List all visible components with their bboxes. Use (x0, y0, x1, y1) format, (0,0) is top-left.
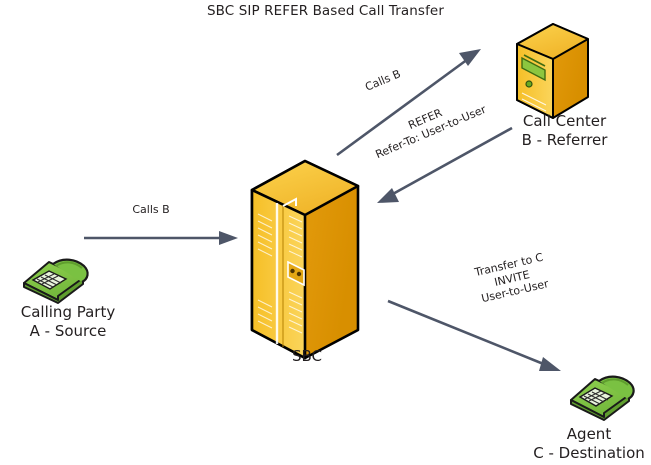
sbc-name: SBC (245, 347, 369, 366)
agent-phone-icon (571, 377, 634, 420)
arrow-a-to-sbc (84, 231, 238, 245)
call-center-name: Call Center (478, 112, 651, 131)
calling-party-role: A - Source (0, 322, 136, 341)
edge-label-a-to-sbc: Calls B (106, 203, 196, 217)
calling-party-name: Calling Party (0, 303, 136, 322)
node-label-call-center: Call Center B - Referrer (478, 112, 651, 150)
calling-party-phone-icon (24, 260, 88, 303)
node-label-agent: Agent C - Destination (527, 425, 651, 463)
sbc-server-icon (252, 161, 358, 358)
node-label-calling-party: Calling Party A - Source (0, 303, 136, 341)
diagram-graphics (0, 0, 651, 465)
call-center-role: B - Referrer (478, 131, 651, 150)
call-center-server-icon (517, 24, 588, 118)
agent-role: C - Destination (527, 444, 651, 463)
arrow-sbc-to-agent (388, 301, 561, 371)
page-title: SBC SIP REFER Based Call Transfer (0, 3, 651, 19)
agent-name: Agent (527, 425, 651, 444)
diagram-canvas: SBC SIP REFER Based Call Transfer Callin… (0, 0, 651, 465)
node-label-sbc: SBC (245, 347, 369, 366)
